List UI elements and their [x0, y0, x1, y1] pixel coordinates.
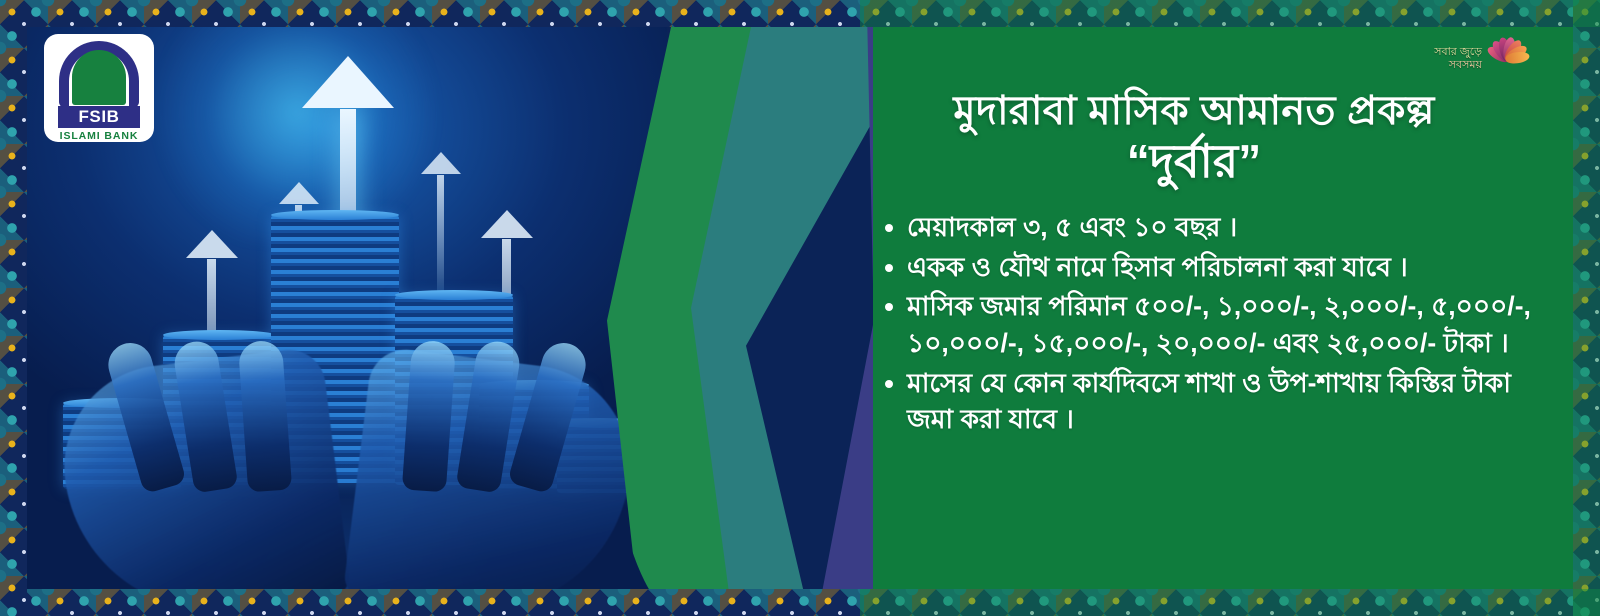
feature-item-tenure: মেয়াদকাল ৩, ৫ এবং ১০ বছর । [885, 209, 1551, 246]
border-right [1573, 0, 1600, 616]
lotus-flower-icon [1484, 36, 1530, 82]
brand-slogan-badge: সবার জুড়ে সবসময় [1434, 36, 1530, 82]
slogan-line-1: সবার জুড়ে [1434, 46, 1482, 59]
border-top [0, 0, 1600, 27]
slogan-line-2: সবসময় [1449, 59, 1482, 72]
feature-item-deposit: মাসের যে কোন কার্যদিবসে শাখা ও উপ-শাখায়… [885, 365, 1551, 438]
fsib-logo[interactable]: FSIB ISLAMI BANK [44, 34, 154, 142]
border-green-tint-right [1573, 0, 1600, 616]
border-bottom [0, 589, 1600, 616]
cupped-hands-illustration [67, 331, 627, 589]
promo-banner: FSIB ISLAMI BANK সবার জুড়ে সবসময় [0, 0, 1600, 616]
growth-arrow-right-inner [437, 175, 444, 295]
feature-item-amounts: মাসিক জমার পরিমান ৫০০/-, ১,০০০/-, ২,০০০/… [885, 288, 1551, 361]
logo-subtitle: ISLAMI BANK [60, 130, 139, 142]
headline-line-2: “দুর্বার” [833, 136, 1555, 188]
border-left [0, 0, 27, 616]
logo-name-band: FSIB [58, 106, 140, 128]
promo-content: মুদারাবা মাসিক আমানত প্রকল্প “দুর্বার” ম… [833, 27, 1573, 589]
logo-initials: FSIB [78, 107, 119, 127]
mosque-dome-icon [55, 41, 143, 107]
dome-fill [72, 50, 126, 105]
feature-list: মেয়াদকাল ৩, ৫ এবং ১০ বছর । একক ও যৌথ না… [833, 209, 1573, 437]
banner-stage: FSIB ISLAMI BANK সবার জুড়ে সবসময় [27, 27, 1573, 589]
slogan-text: সবার জুড়ে সবসময় [1434, 46, 1482, 71]
feature-item-account: একক ও যৌথ নামে হিসাব পরিচালনা করা যাবে । [885, 249, 1551, 286]
headline-line-1: মুদারাবা মাসিক আমানত প্রকল্প [833, 89, 1555, 134]
